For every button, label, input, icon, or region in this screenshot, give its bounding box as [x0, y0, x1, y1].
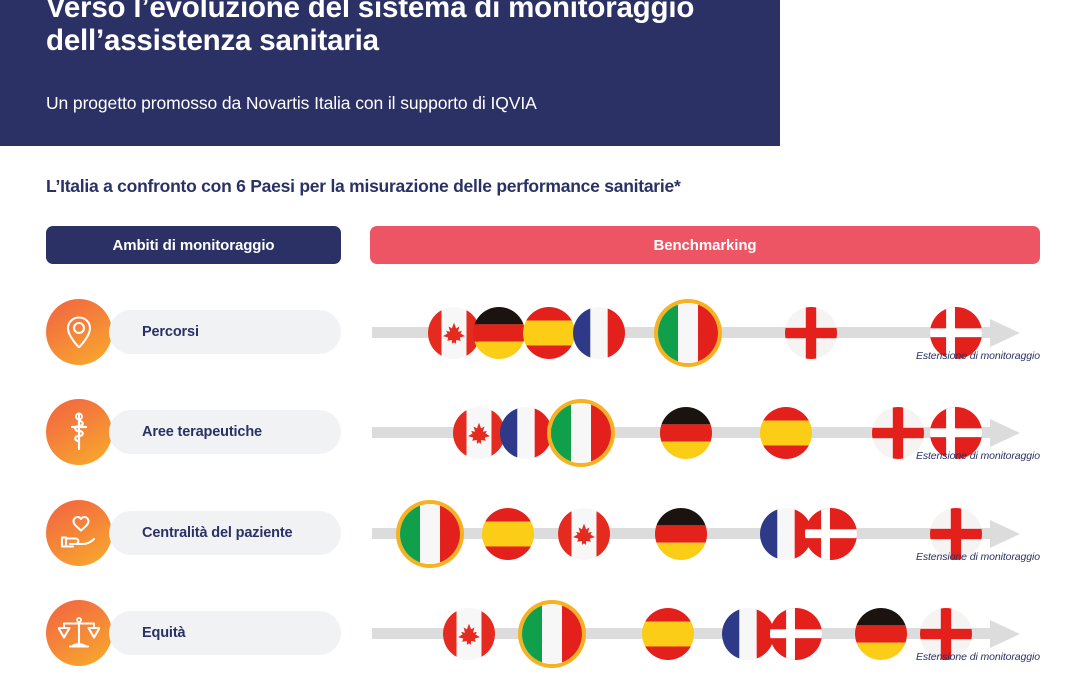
- row-label-text: Centralità del paziente: [142, 525, 292, 541]
- flag-es[interactable]: [642, 608, 694, 660]
- axis-arrowhead-icon: [990, 520, 1020, 548]
- extension-note: Estensione di monitoraggio: [916, 350, 1040, 362]
- flag-it[interactable]: [551, 403, 611, 463]
- axis-arrowhead-icon: [990, 319, 1020, 347]
- flag-dk[interactable]: [805, 508, 857, 560]
- flag-de[interactable]: [473, 307, 525, 359]
- flag-ca[interactable]: [558, 508, 610, 560]
- hand-heart-icon: [46, 500, 112, 566]
- flag-fr[interactable]: [500, 407, 552, 459]
- flag-de[interactable]: [660, 407, 712, 459]
- row-label-text: Equità: [142, 625, 185, 641]
- flag-en[interactable]: [785, 307, 837, 359]
- row-label-text: Percorsi: [142, 324, 199, 340]
- extension-note: Estensione di monitoraggio: [916, 450, 1040, 462]
- header-banner: Verso l’evoluzione del sistema di monito…: [0, 0, 780, 146]
- axis-arrowhead-icon: [990, 620, 1020, 648]
- flag-es[interactable]: [760, 407, 812, 459]
- banner-title: Verso l’evoluzione del sistema di monito…: [46, 0, 746, 57]
- row-label-text: Aree terapeutiche: [142, 424, 262, 440]
- location-pin-icon: [46, 299, 112, 365]
- flag-es[interactable]: [482, 508, 534, 560]
- row-label-pill[interactable]: Equità: [109, 611, 341, 655]
- benchmark-row: Centralità del paziente: [0, 486, 1080, 586]
- flag-es[interactable]: [523, 307, 575, 359]
- benchmark-row: Aree terapeutiche: [0, 385, 1080, 485]
- extension-note: Estensione di monitoraggio: [916, 651, 1040, 663]
- flag-ca[interactable]: [453, 407, 505, 459]
- row-label-pill[interactable]: Percorsi: [109, 310, 341, 354]
- flag-fr[interactable]: [722, 608, 774, 660]
- infographic-canvas: Verso l’evoluzione del sistema di monito…: [0, 0, 1080, 675]
- flag-it[interactable]: [522, 604, 582, 664]
- benchmark-row: Equità Esten: [0, 586, 1080, 675]
- benchmark-row: Percorsi Est: [0, 285, 1080, 385]
- flag-ca[interactable]: [443, 608, 495, 660]
- flag-dk[interactable]: [770, 608, 822, 660]
- flag-it[interactable]: [400, 504, 460, 564]
- flag-fr[interactable]: [573, 307, 625, 359]
- asclepius-rod-icon: [46, 399, 112, 465]
- row-label-pill[interactable]: Centralità del paziente: [109, 511, 341, 555]
- column-header-benchmarking: Benchmarking: [370, 226, 1040, 264]
- banner-subtitle: Un progetto promosso da Novartis Italia …: [46, 93, 746, 114]
- axis-arrowhead-icon: [990, 419, 1020, 447]
- column-header-ambiti: Ambiti di monitoraggio: [46, 226, 341, 264]
- extension-note: Estensione di monitoraggio: [916, 551, 1040, 563]
- row-label-pill[interactable]: Aree terapeutiche: [109, 410, 341, 454]
- section-heading: L’Italia a confronto con 6 Paesi per la …: [46, 176, 681, 197]
- flag-de[interactable]: [855, 608, 907, 660]
- flag-it[interactable]: [658, 303, 718, 363]
- flag-de[interactable]: [655, 508, 707, 560]
- balance-scales-icon: [46, 600, 112, 666]
